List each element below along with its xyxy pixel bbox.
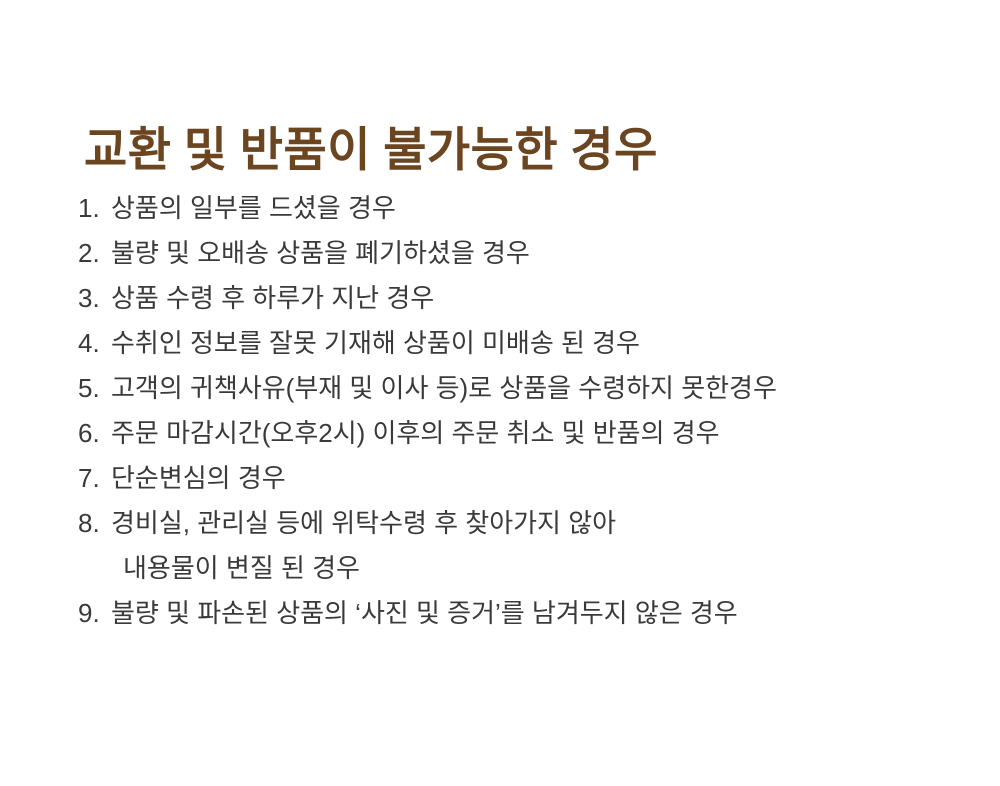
list-item-body: 고객의 귀책사유(부재 및 이사 등)로 상품을 수령하지 못한경우: [111, 366, 978, 411]
list-item: 5.고객의 귀책사유(부재 및 이사 등)로 상품을 수령하지 못한경우: [78, 366, 978, 411]
list-item-body: 주문 마감시간(오후2시) 이후의 주문 취소 및 반품의 경우: [111, 411, 978, 456]
notice-list: 1.상품의 일부를 드셨을 경우2.불량 및 오배송 상품을 폐기하셨을 경우3…: [78, 186, 978, 636]
list-item-body: 불량 및 오배송 상품을 폐기하셨을 경우: [111, 231, 978, 276]
list-item-marker: 9.: [78, 591, 111, 636]
list-item: 3.상품 수령 후 하루가 지난 경우: [78, 276, 978, 321]
list-item-continuation-line: 내용물이 변질 된 경우: [111, 546, 978, 591]
list-item: 9.불량 및 파손된 상품의 ‘사진 및 증거’를 남겨두지 않은 경우: [78, 591, 978, 636]
list-item-text: 경비실, 관리실 등에 위탁수령 후 찾아가지 않아: [111, 501, 978, 546]
list-item-body: 단순변심의 경우: [111, 456, 978, 501]
list-item-text: 고객의 귀책사유(부재 및 이사 등)로 상품을 수령하지 못한경우: [111, 366, 978, 411]
list-item: 1.상품의 일부를 드셨을 경우: [78, 186, 978, 231]
list-item-body: 불량 및 파손된 상품의 ‘사진 및 증거’를 남겨두지 않은 경우: [111, 591, 978, 636]
list-item-body: 상품 수령 후 하루가 지난 경우: [111, 276, 978, 321]
list-item-text: 상품의 일부를 드셨을 경우: [111, 186, 978, 231]
list-item-text: 수취인 정보를 잘못 기재해 상품이 미배송 된 경우: [111, 321, 978, 366]
list-item-text: 단순변심의 경우: [111, 456, 978, 501]
list-item-marker: 8.: [78, 501, 111, 546]
list-item-marker: 2.: [78, 231, 111, 276]
document-page: 교환 및 반품이 불가능한 경우 1.상품의 일부를 드셨을 경우2.불량 및 …: [0, 0, 1000, 786]
list-item-marker: 7.: [78, 456, 111, 501]
list-item: 2.불량 및 오배송 상품을 폐기하셨을 경우: [78, 231, 978, 276]
list-item-marker: 5.: [78, 366, 111, 411]
list-item-body: 상품의 일부를 드셨을 경우: [111, 186, 978, 231]
list-item-text: 상품 수령 후 하루가 지난 경우: [111, 276, 978, 321]
list-item: 4.수취인 정보를 잘못 기재해 상품이 미배송 된 경우: [78, 321, 978, 366]
list-item: 6.주문 마감시간(오후2시) 이후의 주문 취소 및 반품의 경우: [78, 411, 978, 456]
list-item-marker: 6.: [78, 411, 111, 456]
list-item-body: 경비실, 관리실 등에 위탁수령 후 찾아가지 않아내용물이 변질 된 경우: [111, 501, 978, 591]
list-item-marker: 1.: [78, 186, 111, 231]
list-item-marker: 3.: [78, 276, 111, 321]
list-item-text: 불량 및 파손된 상품의 ‘사진 및 증거’를 남겨두지 않은 경우: [111, 591, 978, 636]
page-title: 교환 및 반품이 불가능한 경우: [84, 123, 658, 179]
list-item-text: 불량 및 오배송 상품을 폐기하셨을 경우: [111, 231, 978, 276]
list-item: 8.경비실, 관리실 등에 위탁수령 후 찾아가지 않아내용물이 변질 된 경우: [78, 501, 978, 591]
list-item-text: 주문 마감시간(오후2시) 이후의 주문 취소 및 반품의 경우: [111, 411, 978, 456]
list-item-body: 수취인 정보를 잘못 기재해 상품이 미배송 된 경우: [111, 321, 978, 366]
list-item-marker: 4.: [78, 321, 111, 366]
list-item: 7.단순변심의 경우: [78, 456, 978, 501]
